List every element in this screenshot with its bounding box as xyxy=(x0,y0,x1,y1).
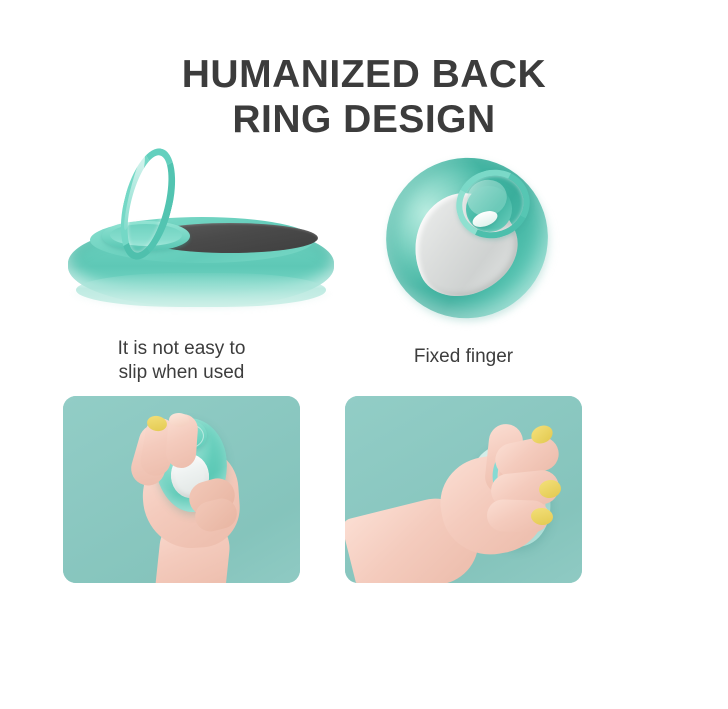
page-title: HUMANIZED BACK RING DESIGN xyxy=(0,52,728,142)
product-figure-back-ring xyxy=(372,150,572,330)
photo-finger-through-ring xyxy=(345,396,582,583)
product-figure-angled-ring-up xyxy=(50,165,350,325)
caption-not-easy-to-slip: It is not easy to slip when used xyxy=(63,337,300,385)
caption-right-line-1: Fixed finger xyxy=(345,345,582,369)
photo-hand-gripping-device xyxy=(63,396,300,583)
product-infographic: HUMANIZED BACK RING DESIGN It is not eas… xyxy=(0,0,728,709)
caption-left-line-2: slip when used xyxy=(63,361,300,385)
page-title-line-1: HUMANIZED BACK xyxy=(0,52,728,97)
device-glossy-rim xyxy=(76,273,326,307)
caption-fixed-finger: Fixed finger xyxy=(345,345,582,369)
caption-left-line-1: It is not easy to xyxy=(63,337,300,361)
page-title-line-2: RING DESIGN xyxy=(0,97,728,142)
